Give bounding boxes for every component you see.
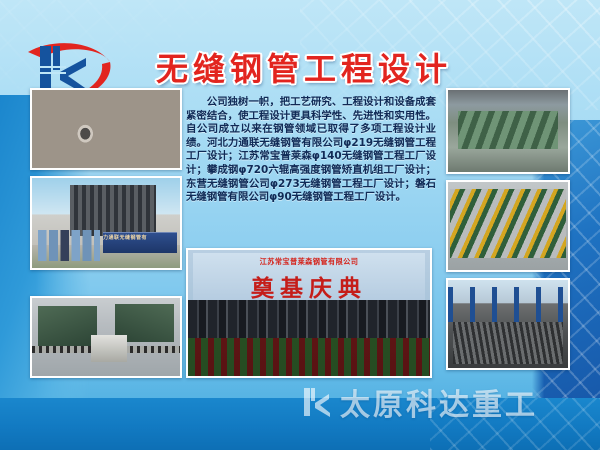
ceremony-flowers: [188, 338, 430, 376]
ceremony-banner-company: 江苏常宝普莱森钢管有限公司: [193, 257, 425, 267]
photo-machinery-line: [30, 296, 182, 378]
watermark-text: 太原科达重工: [340, 380, 538, 424]
gate-sign-text: 力通联无缝钢管有: [103, 233, 177, 242]
machine-center: [91, 335, 127, 362]
photo-equipment-yard: [446, 180, 570, 272]
gate-group-photo: [38, 230, 100, 261]
gate-building: [70, 185, 156, 235]
ceremony-banner: 江苏常宝普莱森钢管有限公司 奠基庆典: [193, 253, 425, 303]
cooling-bed-surface: [453, 322, 563, 364]
ceremony-attendees: [188, 300, 430, 340]
machine-left: [38, 306, 97, 347]
watermark: 太原科达重工: [300, 378, 600, 426]
photo-ceremony: 江苏常宝普莱森钢管有限公司 奠基庆典: [186, 248, 432, 378]
photo-cooling-bed: [446, 278, 570, 370]
gate-signboard: 力通联无缝钢管有: [103, 232, 177, 253]
photo-factory-gate-image: 力通联无缝钢管有: [32, 178, 180, 268]
watermark-logo-icon: [300, 385, 334, 419]
photo-machinery-line-image: [32, 298, 180, 376]
description-paragraph: 公司独树一帜，把工艺研究、工程设计和设备成套紧密结合，使工程设计更具科学性、先进…: [186, 96, 436, 205]
poster-canvas: 无缝钢管工程设计 公司独树一帜，把工艺研究、工程设计和设备成套紧密结合，使工程设…: [0, 0, 600, 450]
photo-workshop-assembly-image: [448, 90, 568, 172]
photo-steel-pipes: [30, 88, 182, 170]
ceremony-banner-headline: 奠基庆典: [193, 269, 425, 303]
assembly-machines: [458, 111, 559, 149]
page-title: 无缝钢管工程设计: [128, 44, 480, 90]
equipment-rows: [450, 189, 565, 258]
photo-ceremony-image: 江苏常宝普莱森钢管有限公司 奠基庆典: [188, 250, 430, 376]
photo-workshop-assembly: [446, 88, 570, 174]
photo-steel-pipes-image: [32, 90, 180, 168]
photo-factory-gate: 力通联无缝钢管有: [30, 176, 182, 270]
photo-equipment-yard-image: [448, 182, 568, 270]
photo-cooling-bed-image: [448, 280, 568, 368]
cooling-bed-columns: [448, 287, 568, 322]
